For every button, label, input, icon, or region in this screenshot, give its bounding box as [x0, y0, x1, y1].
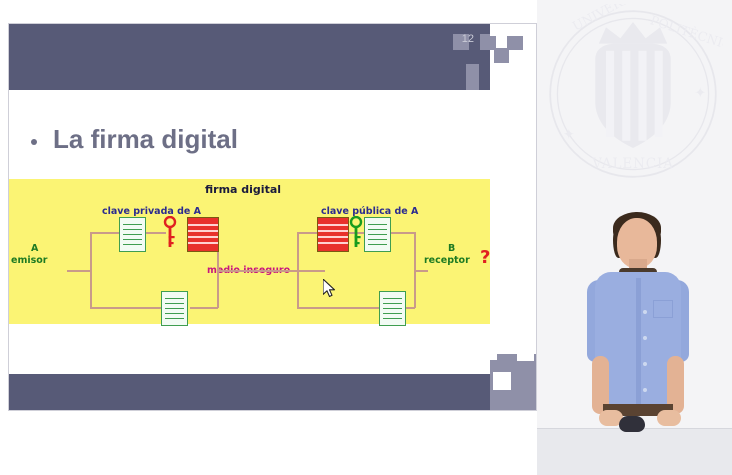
document-icon: [364, 217, 391, 252]
wire-doc-down-right: [414, 232, 416, 270]
presenter-shirt-pocket: [653, 300, 673, 318]
wire-bottom-join-left: [190, 307, 218, 309]
wire-key-to-doc-right: [389, 232, 415, 234]
document-icon: [119, 217, 146, 252]
key-red-icon: [163, 216, 177, 250]
presenter-shirt-placket: [636, 278, 641, 410]
wire-sender-in: [67, 270, 91, 272]
upv-logo-watermark: VALENCIA UNIVERSITAT POLITÈCNICA ✦ ✦: [543, 4, 723, 184]
wire-to-cipher-right: [297, 232, 317, 234]
receiver-label-b: B: [448, 243, 455, 254]
key-green-icon: [349, 216, 363, 250]
receiver-label-receptor: receptor: [424, 255, 470, 266]
ciphertext-block-icon: [317, 217, 349, 252]
screen: Criptografía La firma digital firma digi…: [0, 0, 732, 475]
slide-panel: Criptografía La firma digital firma digi…: [8, 23, 537, 411]
svg-text:✦: ✦: [694, 86, 706, 102]
page-number: 12: [462, 33, 474, 45]
sender-label-a: A: [31, 243, 38, 254]
wire-split-left: [90, 232, 92, 308]
wire-to-doc-top-left: [90, 232, 120, 234]
ciphertext-block-icon: [187, 217, 219, 252]
wire-receiver-out: [414, 270, 428, 272]
wire-insecure-channel: [217, 270, 325, 272]
figure-digital-signature: firma digital A emisor clave privada de …: [9, 179, 490, 324]
decor-square-6: [475, 344, 497, 360]
document-icon: [161, 291, 188, 326]
computer-mouse: [619, 416, 645, 432]
presenter-video: VALENCIA UNIVERSITAT POLITÈCNICA ✦ ✦: [537, 0, 732, 475]
mouse-pointer-icon: [323, 279, 337, 298]
decor-square-5: [466, 64, 479, 90]
svg-text:VALENCIA: VALENCIA: [591, 156, 674, 172]
presenter-hand-right: [657, 410, 681, 426]
decor-square-3: [507, 34, 523, 50]
decor-square-8: [493, 372, 511, 390]
bullet-item: La firma digital: [31, 124, 238, 155]
slide-header-bar: [9, 24, 490, 90]
wire-bottom-up-right: [414, 270, 416, 308]
document-icon: [379, 291, 406, 326]
figure-title: firma digital: [205, 183, 281, 196]
receiver-question-icon: ?: [480, 247, 490, 268]
decor-gap-1: [490, 24, 537, 36]
wire-bottom-up-left: [217, 270, 219, 308]
decor-square-4: [494, 48, 509, 63]
sender-label-emisor: emisor: [11, 255, 47, 266]
bullet-dot-icon: [31, 139, 37, 145]
decor-square-7: [517, 344, 534, 361]
desk-surface: [537, 428, 732, 475]
wire-split-right: [297, 232, 299, 308]
public-key-label: clave pública de A: [321, 206, 418, 217]
wire-bottom-right: [297, 307, 379, 309]
private-key-label: clave privada de A: [102, 206, 201, 217]
wire-doc-bottom-left: [90, 307, 162, 309]
svg-text:✦: ✦: [563, 127, 575, 143]
bullet-label: La firma digital: [53, 124, 238, 155]
slide-footer-bar: [9, 374, 490, 410]
